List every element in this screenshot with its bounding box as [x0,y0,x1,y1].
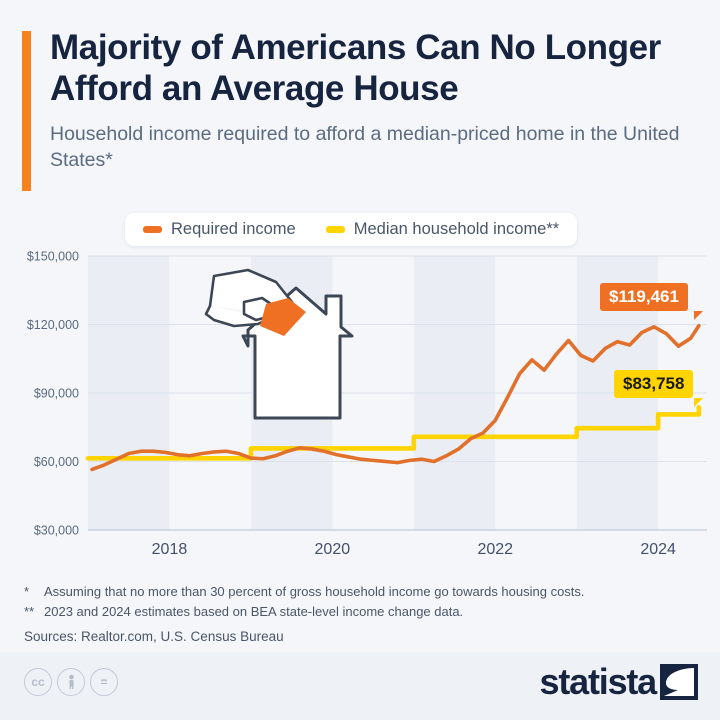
sources-line: Sources: Realtor.com, U.S. Census Bureau [24,629,704,644]
page-title: Majority of Americans Can No Longer Affo… [50,28,694,110]
footnote-1-text: Assuming that no more than 30 percent of… [44,582,585,602]
page-subtitle: Household income required to afford a me… [50,122,694,173]
legend-swatch-median-household-income [326,226,345,233]
accent-bar [22,31,31,191]
chart-y-axis-labels: $30,000$60,000$90,000$120,000$150,000 [27,250,79,538]
cc-nd-equals-icon[interactable]: = [90,668,118,696]
footnote-2: ** 2023 and 2024 estimates based on BEA … [24,602,704,622]
svg-text:$60,000: $60,000 [34,455,79,469]
footnotes: * Assuming that no more than 30 percent … [24,582,704,644]
person-glyph [65,674,78,690]
callout-median-income: $83,758 [614,370,693,398]
callout-median-income-tail [694,398,703,407]
cc-icon[interactable]: cc [24,668,52,696]
svg-text:2020: 2020 [315,541,351,558]
svg-text:$30,000: $30,000 [34,524,79,538]
svg-text:2024: 2024 [640,541,676,558]
svg-text:$120,000: $120,000 [27,318,79,332]
svg-text:2022: 2022 [477,541,513,558]
callout-required-income: $119,461 [600,283,688,311]
legend-item-median-household-income[interactable]: Median household income** [326,220,559,239]
legend-label-median-household-income: Median household income** [354,220,559,239]
svg-text:2018: 2018 [152,541,188,558]
statista-logo[interactable]: statista [540,664,698,700]
svg-text:$150,000: $150,000 [27,250,79,264]
callout-required-income-value: $119,461 [609,287,679,306]
footnote-1: * Assuming that no more than 30 percent … [24,582,704,602]
footnote-1-marker: * [24,582,44,602]
cc-by-person-icon[interactable] [57,668,85,696]
svg-text:$90,000: $90,000 [34,387,79,401]
legend-label-required-income: Required income [171,220,296,239]
legend-item-required-income[interactable]: Required income [143,220,296,239]
legend-swatch-required-income [143,226,162,233]
footnote-2-text: 2023 and 2024 estimates based on BEA sta… [44,602,463,622]
creative-commons-badges: cc = [24,668,118,696]
footnote-2-marker: ** [24,602,44,622]
chart-x-axis-labels: 2018202020222024 [152,541,676,558]
callout-median-income-value: $83,758 [623,374,684,393]
chart: $30,000$60,000$90,000$120,000$150,000 20… [0,240,720,565]
callout-required-income-tail [694,311,703,320]
statista-wordmark: statista [540,664,656,700]
statista-mark-icon [660,664,698,700]
footer: cc = statista [0,652,720,720]
statista-infographic: Majority of Americans Can No Longer Affo… [0,0,720,720]
header: Majority of Americans Can No Longer Affo… [22,28,694,173]
